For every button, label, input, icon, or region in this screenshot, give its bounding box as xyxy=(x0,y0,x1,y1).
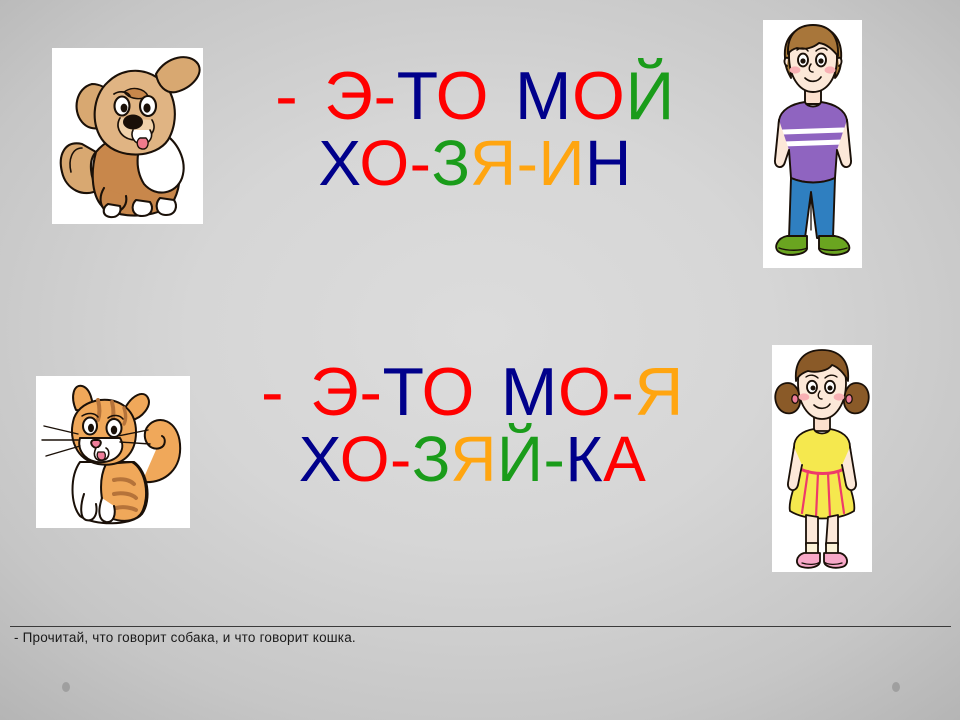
letter-red: - xyxy=(359,354,382,430)
cat-speech-line-1: -Э-ТОМО-Я xyxy=(200,358,745,427)
footer-divider xyxy=(10,626,951,627)
letter-red: А xyxy=(603,423,646,495)
letter-red: О xyxy=(359,127,409,199)
letter-orange: - xyxy=(517,127,539,199)
letter-green: З xyxy=(431,127,469,199)
cartoon-cat-image xyxy=(36,376,190,528)
letter-blue: М xyxy=(515,58,572,134)
dog-speech-line-2: ХО-ЗЯ-ИН xyxy=(210,131,740,196)
cat-speech-text: -Э-ТОМО-Я ХО-ЗЯЙ-КА xyxy=(200,358,745,493)
letter-red: - xyxy=(275,58,298,134)
letter-green: - xyxy=(544,423,566,495)
letter-orange: Я xyxy=(634,354,684,430)
decorative-dot-left xyxy=(62,682,70,692)
letter-blue: М xyxy=(501,354,558,430)
letter-blue: Х xyxy=(318,127,359,199)
letter-orange: Я xyxy=(450,423,497,495)
cartoon-puppy-image xyxy=(52,48,203,224)
cartoon-girl-image xyxy=(772,345,872,572)
letter-red: О xyxy=(340,423,390,495)
decorative-dot-right xyxy=(892,682,900,692)
letter-blue: Т xyxy=(382,354,421,430)
letter-green: Й xyxy=(497,423,544,495)
letter-green: З xyxy=(412,423,450,495)
letter-red: - xyxy=(390,423,412,495)
footer-caption: - Прочитай, что говорит собака, и что го… xyxy=(14,630,934,645)
letter-orange: И xyxy=(538,127,585,199)
letter-blue: Х xyxy=(299,423,340,495)
letter-red: - xyxy=(261,354,284,430)
letter-blue: К xyxy=(565,423,603,495)
letter-red: О xyxy=(572,58,625,134)
letter-orange: Я xyxy=(470,127,517,199)
dog-speech-text: -Э-ТОМОЙ ХО-ЗЯ-ИН xyxy=(210,62,740,197)
cat-speech-line-2: ХО-ЗЯЙ-КА xyxy=(200,427,745,492)
letter-red: - xyxy=(374,58,397,134)
letter-red: О xyxy=(421,354,474,430)
letter-blue: Т xyxy=(397,58,436,134)
letter-red: О xyxy=(436,58,489,134)
letter-red: О xyxy=(558,354,611,430)
slide-canvas: -Э-ТОМОЙ ХО-ЗЯ-ИН -Э-ТОМО-Я ХО-ЗЯЙ-КА - … xyxy=(0,0,960,720)
letter-blue: Н xyxy=(585,127,632,199)
cartoon-boy-image xyxy=(763,20,862,268)
letter-red: Э xyxy=(310,354,359,430)
letter-green: Й xyxy=(625,58,674,134)
dog-speech-line-1: -Э-ТОМОЙ xyxy=(210,62,740,131)
letter-red: Э xyxy=(324,58,373,134)
letter-red: - xyxy=(410,127,432,199)
letter-red: - xyxy=(611,354,634,430)
